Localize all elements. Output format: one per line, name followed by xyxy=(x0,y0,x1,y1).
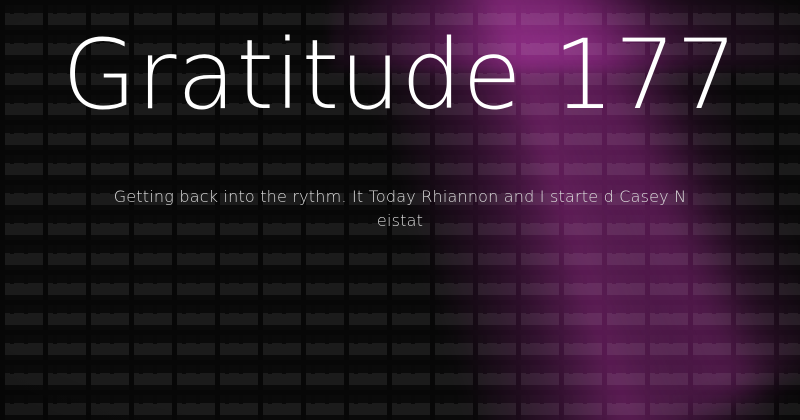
title-card: Gratitude 177 Getting back into the ryth… xyxy=(0,0,800,420)
background-tile-gutters xyxy=(0,0,800,420)
